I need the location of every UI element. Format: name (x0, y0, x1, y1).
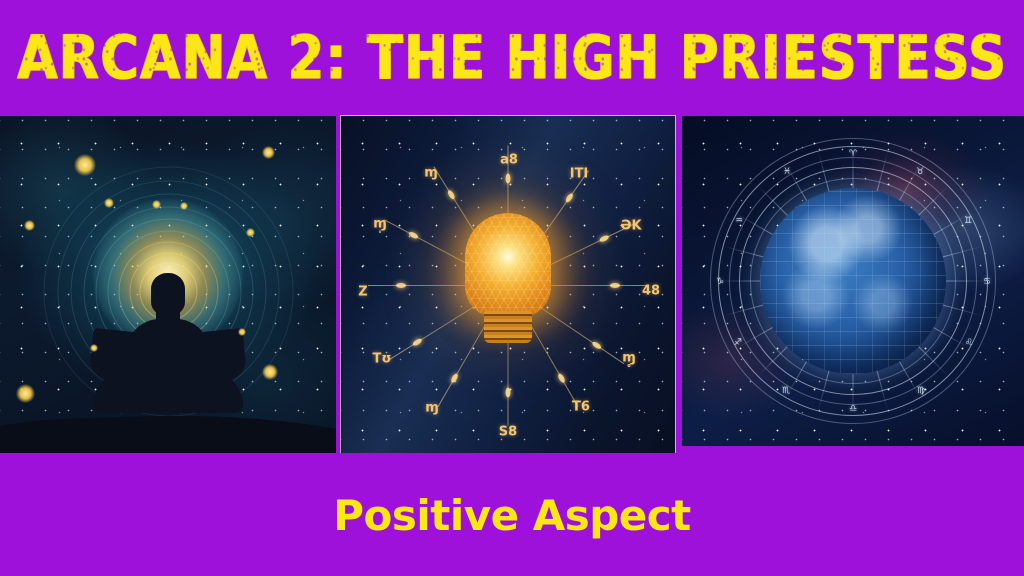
meditating-figure-cosmos-image (0, 116, 336, 453)
zodiac-glyph-label: T6 (572, 400, 590, 415)
page-title: ARCANA 2: THE HIGH PRIESTESS (17, 28, 1007, 91)
zodiac-symbol: ♎ (849, 404, 857, 414)
zodiac-glyph-label: 48 (642, 284, 660, 299)
glowing-lightbulb-zodiac-image: a8 ITI ƏK 48 ɱ̥ T6 S8 ɱ Tʊ Z ɱ̩ ɱ (340, 115, 676, 453)
earth-globe (760, 188, 946, 374)
meditating-silhouette (83, 273, 253, 423)
lightbulb-glass (465, 213, 551, 317)
zodiac-glyph-label: ƏK (620, 219, 641, 234)
star-orb (180, 202, 188, 210)
zodiac-glyph-label: S8 (499, 425, 517, 440)
zodiac-symbol: ♉ (916, 167, 924, 177)
zodiac-symbol: ♌ (965, 338, 973, 348)
title-bar: ARCANA 2: THE HIGH PRIESTESS (0, 20, 1024, 98)
zodiac-symbol: ♒ (735, 216, 743, 226)
zodiac-glyph-label: a8 (500, 153, 518, 168)
zodiac-glyph-label: ɱ (425, 401, 439, 416)
silhouette-torso (126, 319, 210, 389)
zodiac-symbol: ♓ (783, 167, 791, 177)
zodiac-symbol: ♊ (964, 216, 972, 226)
zodiac-glyph-label: Z (358, 285, 367, 300)
zodiac-symbol: ♑ (716, 277, 724, 287)
star-orb (238, 328, 246, 336)
zodiac-symbol: ♐ (734, 338, 742, 348)
earth-astrology-wheel-image: ♈ ♉ ♊ ♋ ♌ ♍ ♎ ♏ ♐ ♑ ♒ ♓ (682, 116, 1024, 446)
lightbulb (465, 213, 551, 343)
star-orb (262, 364, 278, 380)
zodiac-symbol: ♈ (849, 149, 857, 159)
star-orb (262, 146, 275, 159)
zodiac-glyph-label: ɱ̩ (373, 217, 387, 232)
slide-canvas: ARCANA 2: THE HIGH PRIESTESS (0, 0, 1024, 576)
zodiac-symbol: ♏ (782, 386, 790, 396)
star-orb (90, 344, 98, 352)
star-orb (16, 384, 35, 403)
lightbulb-screw-base (484, 311, 532, 343)
zodiac-glyph-label: ɱ̥ (622, 351, 636, 366)
star-orb (74, 154, 96, 176)
star-orb (152, 200, 161, 209)
star-orb (104, 198, 114, 208)
zodiac-glyph-label: ITI (570, 167, 589, 182)
star-orb (246, 228, 255, 237)
caption-label: Positive Aspect (333, 493, 691, 539)
silhouette-head (151, 273, 185, 315)
zodiac-glyph-label: Tʊ (373, 352, 392, 367)
zodiac-symbol: ♍ (917, 386, 925, 396)
zodiac-symbol: ♋ (983, 277, 991, 287)
caption-bar: Positive Aspect (0, 486, 1024, 546)
zodiac-glyph-label: ɱ (424, 166, 438, 181)
star-orb (24, 220, 35, 231)
